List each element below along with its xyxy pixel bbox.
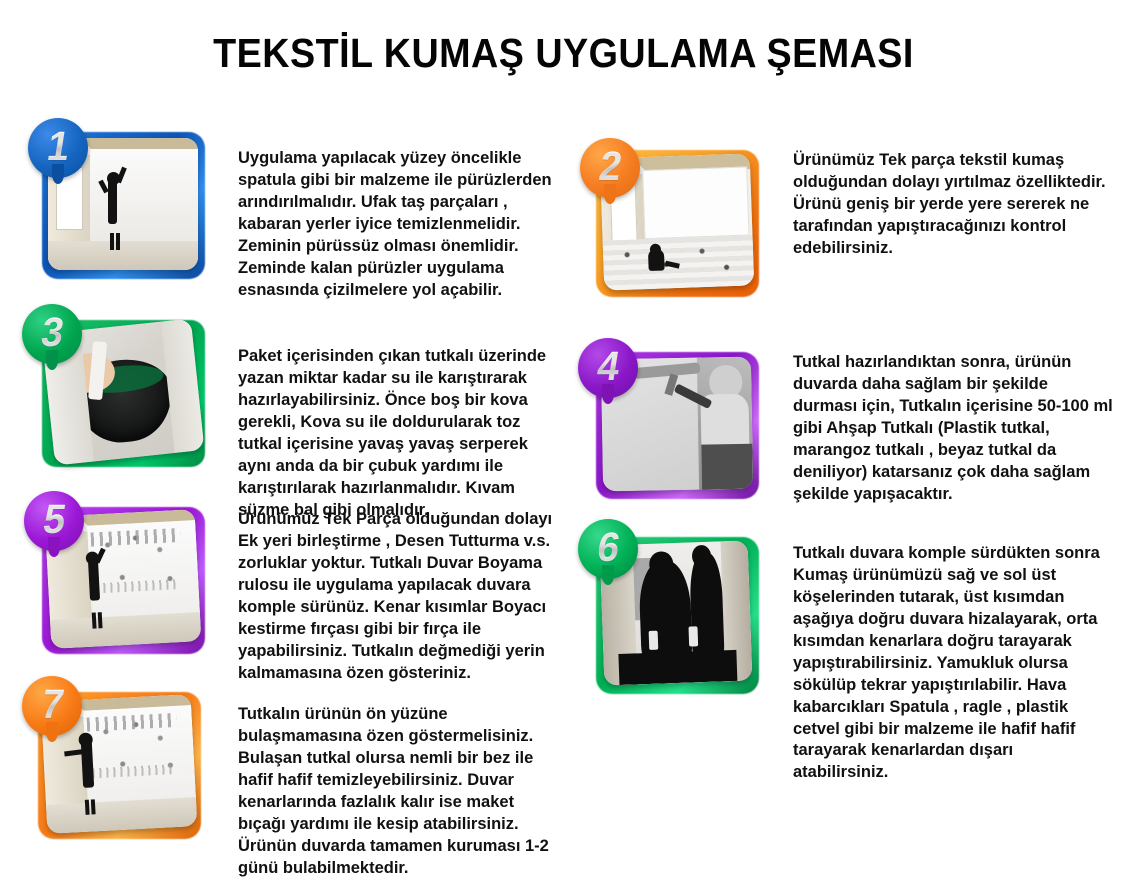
step-3-text: Paket içerisinden çıkan tutkalı üzerinde…: [238, 346, 558, 522]
step-6-number: 6: [594, 527, 623, 571]
step-3-figure: 3: [26, 310, 211, 475]
step-7-text: Tutkalın ürünün ön yüzüne bulaşmamasına …: [238, 704, 558, 880]
step-3-badge: 3: [22, 304, 82, 364]
step-1-badge: 1: [28, 118, 88, 178]
step-3-number: 3: [38, 312, 67, 356]
step-4-badge: 4: [578, 338, 638, 398]
step-6-text: Tutkalı duvara komple sürdükten sonra Ku…: [793, 543, 1113, 784]
step-1-figure: 1: [26, 122, 211, 287]
step-5-number: 5: [40, 499, 69, 543]
step-5-text: Ürünümüz Tek Parça olduğundan dolayı Ek …: [238, 509, 558, 685]
step-6-figure: 6: [580, 527, 765, 702]
step-2-figure: 2: [580, 140, 765, 305]
step-1-number: 1: [44, 126, 73, 170]
step-7-badge: 7: [22, 676, 82, 736]
steps-column-right: 2 Ürünümüz Tek parça tekstil kumaş olduğ…: [555, 0, 1118, 888]
steps-column-left: 1 Uygulama yapılacak yüzey öncelikle spa…: [0, 0, 563, 888]
step-4-number: 4: [594, 346, 623, 390]
step-7-number: 7: [38, 684, 67, 728]
step-4-figure: 4: [580, 342, 765, 507]
step-2-number: 2: [596, 146, 625, 190]
step-6-badge: 6: [578, 519, 638, 579]
step-2-badge: 2: [580, 138, 640, 198]
step-5-badge: 5: [24, 491, 84, 551]
step-1-text: Uygulama yapılacak yüzey öncelikle spatu…: [238, 148, 558, 302]
step-5-figure: 5: [26, 497, 211, 662]
step-7-figure: 7: [22, 682, 207, 847]
step-2-text: Ürünümüz Tek parça tekstil kumaş olduğun…: [793, 150, 1113, 260]
step-4-text: Tutkal hazırlandıktan sonra, ürünün duva…: [793, 352, 1113, 506]
